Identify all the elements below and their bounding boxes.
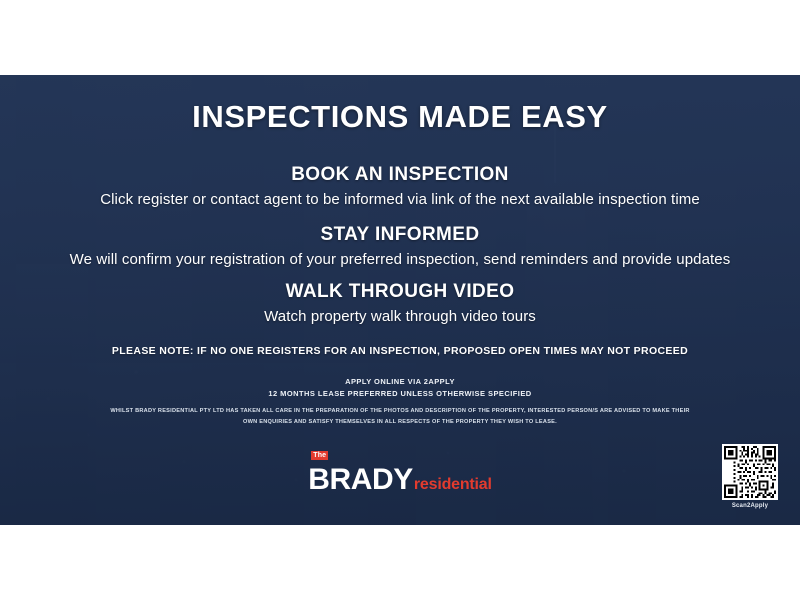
- logo-brady-wordmark: BRADY: [308, 463, 413, 497]
- slide-frame: INSPECTIONS MADE EASY BOOK AN INSPECTION…: [0, 0, 800, 600]
- section-book-an-inspection: BOOK AN INSPECTION Click register or con…: [0, 164, 800, 208]
- section-stay-informed: STAY INFORMED We will confirm your regis…: [0, 224, 800, 268]
- disclaimer-line-2: OWN ENQUIRIES AND SATISFY THEMSELVES IN …: [0, 417, 800, 428]
- apply-online-line: APPLY ONLINE VIA 2APPLY: [0, 376, 800, 388]
- section-subtext: We will confirm your registration of you…: [0, 251, 800, 268]
- lease-term-line: 12 MONTHS LEASE PREFERRED UNLESS OTHERWI…: [0, 388, 800, 400]
- section-heading: STAY INFORMED: [0, 224, 800, 246]
- section-walk-through-video: WALK THROUGH VIDEO Watch property walk t…: [0, 281, 800, 325]
- qr-code-icon[interactable]: [722, 444, 778, 500]
- apply-online-note: APPLY ONLINE VIA 2APPLY 12 MONTHS LEASE …: [0, 376, 800, 400]
- disclaimer-line-1: WHILST BRADY RESIDENTIAL PTY LTD HAS TAK…: [0, 406, 800, 417]
- logo-residential-wordmark: residential: [414, 476, 492, 494]
- page-title: INSPECTIONS MADE EASY: [0, 99, 800, 135]
- banner-content: INSPECTIONS MADE EASY BOOK AN INSPECTION…: [0, 75, 800, 525]
- section-heading: BOOK AN INSPECTION: [0, 164, 800, 186]
- section-subtext: Watch property walk through video tours: [0, 308, 800, 325]
- scan-to-apply-block[interactable]: Scan2Apply: [718, 444, 782, 509]
- section-subtext: Click register or contact agent to be in…: [0, 191, 800, 208]
- qr-caption: Scan2Apply: [718, 503, 782, 509]
- logo-the-badge: The: [311, 451, 328, 460]
- please-note-text: PLEASE NOTE: IF NO ONE REGISTERS FOR AN …: [0, 345, 800, 357]
- brady-residential-logo: The BRADY residential: [0, 463, 800, 503]
- disclaimer-text: WHILST BRADY RESIDENTIAL PTY LTD HAS TAK…: [0, 406, 800, 428]
- section-heading: WALK THROUGH VIDEO: [0, 281, 800, 303]
- inspection-banner: INSPECTIONS MADE EASY BOOK AN INSPECTION…: [0, 75, 800, 525]
